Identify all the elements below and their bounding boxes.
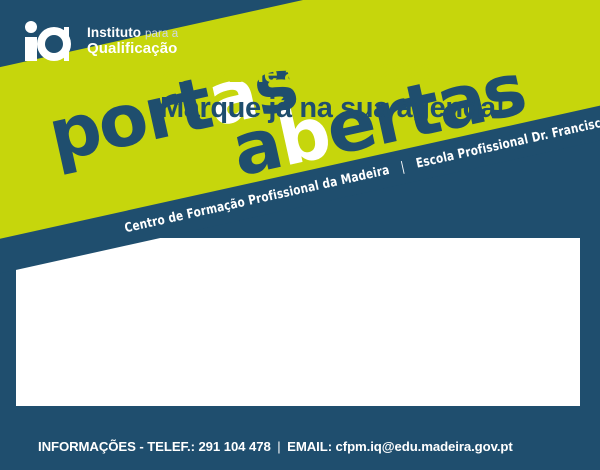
logo-para-a-word: para a xyxy=(145,28,178,40)
logo-institute-word: Instituto xyxy=(87,25,141,40)
footer-contact-text: INFORMAÇÕES - TELEF.: 291 104 478 | EMAI… xyxy=(38,439,513,454)
poster-root: Instituto para a Qualificação portas abe… xyxy=(0,0,600,470)
footer-bar: INFORMAÇÕES - TELEF.: 291 104 478 | EMAI… xyxy=(0,422,600,470)
callout-block: 20 e 21 de abril de 2023 Marque já na su… xyxy=(0,60,600,125)
iq-logomark-icon xyxy=(22,20,78,62)
logo-line-institute: Instituto para a xyxy=(87,25,178,41)
footer-separator: | xyxy=(274,439,283,454)
callout-action: Marque já na sua agenda! xyxy=(160,91,505,125)
logo-line-qualificacao: Qualificação xyxy=(87,41,178,58)
callout-date: 20 e 21 de abril de 2023 xyxy=(160,60,505,90)
iq-logo: Instituto para a Qualificação xyxy=(22,20,178,62)
subtitle-separator: | xyxy=(391,157,414,176)
chevron-right-icon xyxy=(84,61,146,124)
footer-phone-info: INFORMAÇÕES - TELEF.: 291 104 478 xyxy=(38,439,271,454)
footer-email-info[interactable]: EMAIL: cfpm.iq@edu.madeira.gov.pt xyxy=(287,439,512,454)
white-content-panel xyxy=(16,238,580,406)
iq-logo-text: Instituto para a Qualificação xyxy=(87,25,178,58)
callout-text-lines: 20 e 21 de abril de 2023 Marque já na su… xyxy=(160,60,505,125)
